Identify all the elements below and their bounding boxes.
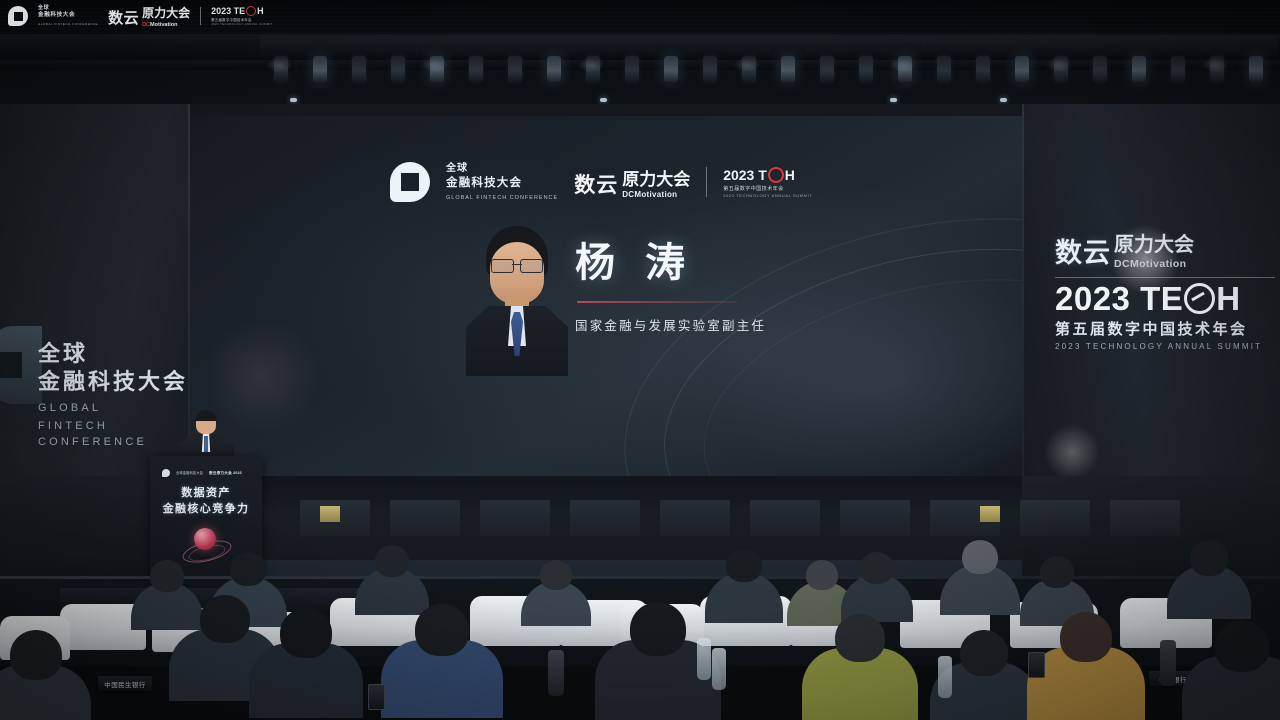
- led-year-main: 2023 T H: [723, 167, 812, 183]
- stage-light-icon: [664, 56, 678, 82]
- truss-box: [962, 36, 1004, 56]
- right-panel-cn-subtitle: 第五届数字中国技术年会: [1055, 318, 1275, 339]
- truss-box: [260, 36, 302, 56]
- tech-post: H: [1216, 282, 1240, 315]
- truss-box: [338, 36, 380, 56]
- podium-title-line1: 数据资产: [150, 486, 262, 502]
- year-block: 2023 T H 第五届数字中国技术年会 2023 TECHNOLOGY ANN…: [723, 167, 812, 198]
- truss-box: [1118, 36, 1160, 56]
- truss-box: [533, 36, 575, 56]
- speaker-title: 国家金融与发展实验室副主任: [575, 315, 905, 334]
- left-wall-cn-line1: 全球: [38, 340, 190, 368]
- smartphone-icon: [1028, 652, 1045, 678]
- truss-box: [1001, 36, 1043, 56]
- truss-box: [572, 36, 614, 56]
- stage-light-icon: [391, 56, 405, 82]
- truss-box: [1040, 36, 1082, 56]
- water-bottle: [548, 650, 564, 696]
- stage-light-icon: [703, 56, 717, 82]
- logo-divider: [706, 167, 707, 197]
- audience-person-head: [1215, 620, 1269, 672]
- gfc-logo-mark-icon: [8, 6, 28, 26]
- ceiling-spot-icon: [290, 98, 297, 102]
- gfc-logo-mark-icon: [390, 162, 430, 202]
- podium-title: 数据资产 金融核心竞争力: [150, 486, 262, 518]
- audience-person-head: [1040, 556, 1074, 588]
- stage-light-icon: [1171, 56, 1185, 82]
- water-bottle: [712, 648, 726, 690]
- led-dc-second: 原力大会: [622, 170, 690, 189]
- truss-box: [884, 36, 926, 56]
- speaker-portrait: [462, 226, 572, 376]
- wm-year-pre: 2023 TE: [211, 6, 245, 16]
- audience-person-head: [962, 540, 998, 574]
- stage-light-icon: [547, 56, 561, 82]
- wm-year-line1: 2023 TE H: [211, 6, 273, 16]
- speaker-name-block: 杨涛 国家金融与发展实验室副主任: [575, 241, 905, 334]
- name-underline: [577, 301, 737, 303]
- led-dc-sub-red: DC: [622, 190, 634, 199]
- ceiling-slat: [0, 32, 1280, 33]
- audience-person-head: [375, 545, 409, 577]
- led-dc-main: 数云: [574, 169, 618, 199]
- podium-logo-dc: 数云原力大会 2023: [209, 471, 242, 476]
- truss-box: [845, 36, 887, 56]
- stage-light-icon: [937, 56, 951, 82]
- wm-gfc-line2: 金融科技大会: [38, 12, 98, 20]
- led-gfc-line1: 全球: [446, 162, 558, 176]
- left-wall-en-line2: FINTECH CONFERENCE: [38, 418, 190, 451]
- audience-person-head: [280, 608, 332, 658]
- audience-person-head: [540, 560, 572, 590]
- ceiling-spot-icon: [1000, 98, 1007, 102]
- light-glow: [578, 58, 604, 72]
- led-year-pre: 2023 T: [723, 167, 767, 183]
- wm-dc-sub: DCMotivation: [142, 22, 190, 28]
- left-wall-branding: 全球 金融科技大会 GLOBAL FINTECH CONFERENCE: [38, 340, 190, 451]
- audience-area: 中国民生银行中国进出口银行中信银行: [0, 520, 1280, 720]
- audience-person-head: [230, 552, 266, 586]
- left-wall-cn-line2: 金融科技大会: [38, 368, 190, 396]
- star-glow-icon: [1044, 424, 1100, 480]
- right-panel-en-subtitle: 2023 TECHNOLOGY ANNUAL SUMMIT: [1055, 342, 1275, 351]
- light-glow: [890, 58, 916, 72]
- stage-light-icon: [1132, 56, 1146, 82]
- right-panel-tech-title: 2023 TE H: [1055, 282, 1275, 315]
- audience-person-head: [150, 560, 184, 592]
- audience-person-head: [835, 614, 885, 662]
- truss-box: [416, 36, 458, 56]
- truss-box: [923, 36, 965, 56]
- gfc-logo-mark-icon: [162, 469, 170, 477]
- audience-person-head: [10, 630, 62, 680]
- watermark-gfc-text: 全球 金融科技大会 GLOBAL FINTECH CONFERENCE: [38, 5, 98, 26]
- stage-light-icon: [469, 56, 483, 82]
- audience-person-head: [860, 552, 894, 584]
- truss-box: [767, 36, 809, 56]
- truss-box: [806, 36, 848, 56]
- stage-light-icon: [976, 56, 990, 82]
- right-wall-brand-panel: 数云 原力大会 DCMotivation 2023 TE H 第五届数字中国技术…: [1055, 228, 1275, 351]
- light-glow: [422, 58, 448, 72]
- audience-person-head: [960, 630, 1008, 676]
- truss-box: [650, 36, 692, 56]
- right-brand-second: 原力大会: [1114, 234, 1194, 256]
- speaker-name: 杨涛: [575, 241, 905, 285]
- gfc-logo-mark-icon: [0, 326, 42, 404]
- watermark-divider: [200, 7, 201, 25]
- led-logo-bar: 全球 金融科技大会 GLOBAL FINTECH CONFERENCE 数云 原…: [390, 162, 812, 202]
- truss-box: [494, 36, 536, 56]
- swoosh-icon: [246, 6, 256, 16]
- truss-box: [455, 36, 497, 56]
- led-dc-sub: DCMotivation: [622, 190, 690, 199]
- audience-person-head: [200, 595, 250, 643]
- tech-pre: 2023 TE: [1055, 282, 1183, 315]
- water-bottle: [1160, 640, 1176, 686]
- led-year-post: H: [785, 167, 795, 183]
- audience-person-head: [806, 560, 838, 590]
- light-glow: [266, 58, 292, 72]
- watermark-year-block: 2023 TE H 第五届数字中国技术年会 2023 TECHNOLOGY AN…: [211, 6, 273, 26]
- ceiling-spot-icon: [890, 98, 897, 102]
- lighting-truss-secondary: [0, 60, 1280, 70]
- watermark-dc-logo: 数云 原力大会 DCMotivation: [108, 4, 190, 28]
- wm-gfc-line3: GLOBAL FINTECH CONFERENCE: [38, 22, 98, 27]
- right-brand-en: DCMotivation: [1114, 258, 1194, 270]
- led-year-en: 2023 TECHNOLOGY ANNUAL SUMMIT: [723, 193, 812, 198]
- led-gfc-line2: 金融科技大会: [446, 176, 558, 192]
- stage-light-icon: [313, 56, 327, 82]
- audience-person-head: [1190, 540, 1228, 576]
- stage-light-icon: [1249, 56, 1263, 82]
- eyeglasses-icon: [491, 259, 543, 271]
- broadcast-watermark: 全球 金融科技大会 GLOBAL FINTECH CONFERENCE 数云 原…: [8, 4, 273, 28]
- at-symbol-icon: [1184, 283, 1215, 314]
- stage-light-icon: [820, 56, 834, 82]
- wm-year-line3: 2023 TECHNOLOGY ANNUAL SUMMIT: [211, 22, 273, 26]
- truss-box: [689, 36, 731, 56]
- stage-light-icon: [625, 56, 639, 82]
- wm-dc-sub-red: DC: [142, 22, 150, 28]
- conference-stage-photo: 全球 金融科技大会 GLOBAL FINTECH CONFERENCE 数云 原…: [0, 0, 1280, 720]
- podium-logo-cn: 全球金融科技大会: [176, 471, 203, 476]
- audience-person-head: [415, 604, 469, 656]
- light-glow: [734, 58, 760, 72]
- wm-dc-sub-white: Motivation: [150, 22, 178, 28]
- audience-person-head: [726, 548, 762, 582]
- light-glow: [1046, 58, 1072, 72]
- water-bottle: [697, 638, 711, 680]
- podium-logo-row: 全球金融科技大会 数云原力大会 2023: [162, 469, 242, 477]
- truss-box: [1157, 36, 1199, 56]
- stage-light-icon: [508, 56, 522, 82]
- led-year-cn: 第五届数字中国技术年会: [723, 185, 812, 192]
- wm-dc-main: 数云: [108, 7, 139, 28]
- podium-title-line2: 金融核心竞争力: [150, 502, 262, 518]
- main-led-screen: 全球 金融科技大会 GLOBAL FINTECH CONFERENCE 数云 原…: [190, 116, 1022, 476]
- truss-box: [611, 36, 653, 56]
- right-panel-divider: [1055, 277, 1275, 278]
- dc-logo: 数云 原力大会 DCMotivation: [574, 165, 690, 199]
- water-bottle: [938, 656, 952, 698]
- swoosh-icon: [768, 167, 784, 183]
- wm-year-post: H: [257, 6, 264, 16]
- wm-dc-second: 原力大会: [142, 6, 190, 20]
- right-brand-main: 数云: [1055, 231, 1111, 270]
- stage-light-icon: [352, 56, 366, 82]
- audience-person-head: [1060, 612, 1112, 662]
- gfc-logo-text: 全球 金融科技大会 GLOBAL FINTECH CONFERENCE: [446, 162, 558, 202]
- truss-box: [299, 36, 341, 56]
- ceiling-slat: [0, 28, 1280, 29]
- truss-box: [1196, 36, 1238, 56]
- stage-light-icon: [781, 56, 795, 82]
- left-wall-en-line1: GLOBAL: [38, 400, 190, 417]
- ceiling-spot-icon: [600, 98, 607, 102]
- light-glow: [1202, 58, 1228, 72]
- truss-box: [377, 36, 419, 56]
- audience-person-head: [630, 602, 686, 656]
- led-gfc-line3: GLOBAL FINTECH CONFERENCE: [446, 194, 558, 202]
- led-dc-sub-white: Motivation: [634, 190, 677, 199]
- stage-light-icon: [1015, 56, 1029, 82]
- smartphone-icon: [368, 684, 385, 710]
- truss-box: [1235, 36, 1277, 56]
- truss-box: [728, 36, 770, 56]
- seat-placard: 中国民生银行: [98, 676, 152, 691]
- stage-light-icon: [1093, 56, 1107, 82]
- truss-box: [1079, 36, 1121, 56]
- stage-light-icon: [859, 56, 873, 82]
